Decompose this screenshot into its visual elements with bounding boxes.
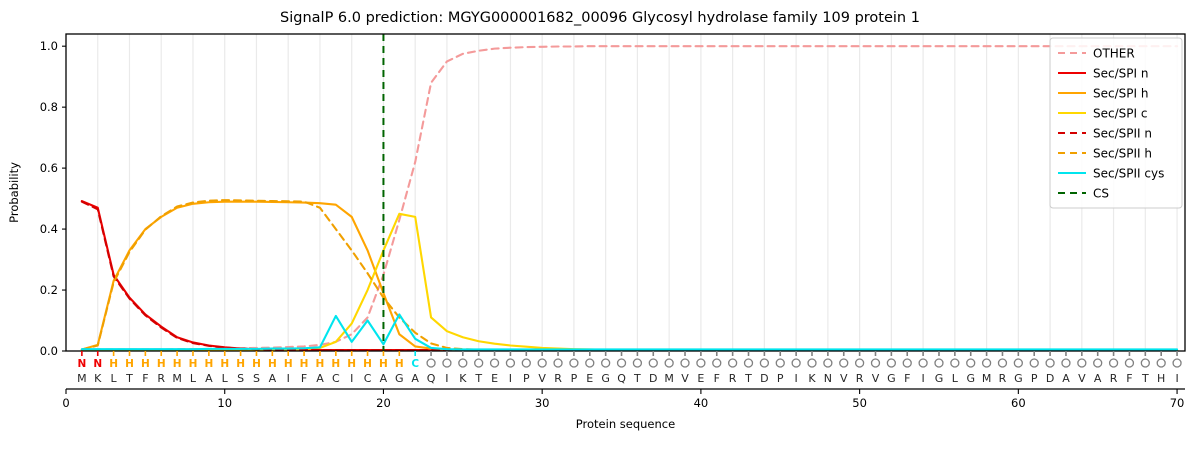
region-marker-h: H	[347, 358, 356, 370]
sequence-letter: G	[395, 372, 404, 385]
region-marker-o	[903, 359, 911, 367]
sequence-letter: T	[1141, 372, 1149, 385]
sequence-letter: R	[729, 372, 737, 385]
sequence-letter: D	[649, 372, 657, 385]
region-marker-o	[475, 359, 483, 367]
series-line-sec-spii-n	[82, 202, 1177, 351]
legend-label-sec-spii-h: Sec/SPII h	[1093, 147, 1152, 161]
sequence-letter: P	[571, 372, 578, 385]
sequence-letter: I	[1175, 372, 1178, 385]
sequence-letter: A	[1062, 372, 1070, 385]
sequence-letter: A	[1094, 372, 1102, 385]
sequence-letter: L	[952, 372, 959, 385]
sequence-letter: R	[856, 372, 864, 385]
sequence-letter: I	[921, 372, 924, 385]
region-marker-o	[1030, 359, 1038, 367]
x-tick-label: 60	[1011, 396, 1026, 410]
sequence-letter: C	[332, 372, 340, 385]
sequence-letter: A	[316, 372, 324, 385]
region-marker-o	[1157, 359, 1165, 367]
region-marker-h: H	[220, 358, 229, 370]
sequence-letter: M	[77, 372, 87, 385]
region-marker-h: H	[157, 358, 166, 370]
region-marker-o	[554, 359, 562, 367]
y-tick-label: 0.4	[40, 222, 58, 236]
region-marker-o	[1110, 359, 1118, 367]
y-tick-label: 0.6	[40, 161, 58, 175]
series-line-sec-spii-cys	[82, 314, 1177, 349]
sequence-letter: P	[523, 372, 530, 385]
region-marker-o	[935, 359, 943, 367]
series-line-sec-spi-c	[82, 214, 1177, 350]
region-marker-o	[887, 359, 895, 367]
legend-label-sec-spi-n: Sec/SPI n	[1093, 67, 1148, 81]
plot-frame	[66, 34, 1185, 351]
region-marker-o	[808, 359, 816, 367]
region-marker-o	[427, 359, 435, 367]
region-marker-o	[459, 359, 467, 367]
region-marker-o	[1078, 359, 1086, 367]
sequence-letter: T	[125, 372, 133, 385]
sequence-letter: I	[445, 372, 448, 385]
sequence-letter: T	[744, 372, 752, 385]
region-marker-h: H	[268, 358, 277, 370]
sequence-letter: R	[554, 372, 562, 385]
region-marker-h: H	[363, 358, 372, 370]
series-line-sec-spi-n	[82, 201, 1177, 350]
sequence-letter: K	[808, 372, 816, 385]
region-marker-o	[983, 359, 991, 367]
sequence-letter: F	[301, 372, 307, 385]
region-marker-o	[745, 359, 753, 367]
region-marker-o	[538, 359, 546, 367]
sequence-letter: K	[459, 372, 467, 385]
sequence-letter: A	[205, 372, 213, 385]
sequence-letter: V	[681, 372, 689, 385]
region-marker-h: H	[141, 358, 150, 370]
region-marker-o	[570, 359, 578, 367]
region-marker-h: H	[236, 358, 245, 370]
region-marker-o	[967, 359, 975, 367]
sequence-letter: R	[999, 372, 1007, 385]
region-marker-h: H	[252, 358, 261, 370]
sequence-letter: P	[1031, 372, 1038, 385]
region-marker-h: H	[316, 358, 325, 370]
y-tick-label: 1.0	[40, 39, 58, 53]
sequence-letter: L	[111, 372, 118, 385]
sequence-letter: I	[287, 372, 290, 385]
region-marker-o	[951, 359, 959, 367]
sequence-letter: E	[697, 372, 704, 385]
region-marker-h: H	[204, 358, 213, 370]
region-marker-o	[1062, 359, 1070, 367]
sequence-letter: N	[824, 372, 832, 385]
sequence-letter: D	[1046, 372, 1054, 385]
region-marker-o	[824, 359, 832, 367]
region-marker-o	[776, 359, 784, 367]
region-marker-h: H	[173, 358, 182, 370]
sequence-letter: T	[474, 372, 482, 385]
sequence-letter: G	[601, 372, 610, 385]
sequence-letter: V	[1078, 372, 1086, 385]
sequence-letter: D	[760, 372, 768, 385]
sequence-letter: M	[982, 372, 992, 385]
region-marker-o	[1173, 359, 1181, 367]
x-tick-label: 70	[1170, 396, 1185, 410]
sequence-letter: A	[269, 372, 277, 385]
region-marker-o	[760, 359, 768, 367]
region-marker-o	[713, 359, 721, 367]
legend-label-cs: CS	[1093, 187, 1109, 201]
sequence-letter: A	[411, 372, 419, 385]
sequence-letter: M	[172, 372, 182, 385]
legend-box	[1050, 38, 1182, 208]
x-axis-label: Protein sequence	[576, 417, 675, 431]
x-tick-label: 30	[535, 396, 550, 410]
sequence-letter: V	[538, 372, 546, 385]
sequence-letter: G	[966, 372, 975, 385]
series-line-sec-spi-h	[82, 202, 1177, 351]
sequence-letter: F	[1126, 372, 1132, 385]
y-tick-label: 0.2	[40, 283, 58, 297]
sequence-letter: V	[872, 372, 880, 385]
region-marker-o	[522, 359, 530, 367]
region-marker-h: H	[331, 358, 340, 370]
sequence-letter: S	[237, 372, 244, 385]
region-marker-o	[792, 359, 800, 367]
sequence-letter: E	[586, 372, 593, 385]
region-marker-h: H	[189, 358, 198, 370]
series-line-other	[82, 46, 1177, 349]
sequence-letter: L	[222, 372, 229, 385]
region-marker-o	[602, 359, 610, 367]
region-marker-h: H	[109, 358, 118, 370]
sequence-letter: S	[253, 372, 260, 385]
sequence-letter: R	[157, 372, 165, 385]
region-marker-o	[729, 359, 737, 367]
sequence-letter: C	[364, 372, 372, 385]
sequence-letter: H	[1157, 372, 1165, 385]
legend-label-sec-spi-c: Sec/SPI c	[1093, 107, 1147, 121]
region-marker-o	[998, 359, 1006, 367]
signalp-figure: SignalP 6.0 prediction: MGYG000001682_00…	[0, 0, 1200, 450]
sequence-letter: M	[664, 372, 674, 385]
y-axis-label: Probability	[7, 162, 21, 223]
chart-title: SignalP 6.0 prediction: MGYG000001682_00…	[280, 10, 920, 26]
region-marker-o	[506, 359, 514, 367]
sequence-letter: I	[350, 372, 353, 385]
region-marker-h: H	[300, 358, 309, 370]
region-marker-o	[856, 359, 864, 367]
series-line-sec-spii-h	[82, 200, 1177, 350]
region-marker-o	[871, 359, 879, 367]
region-marker-h: H	[395, 358, 404, 370]
x-tick-label: 40	[694, 396, 709, 410]
sequence-letter: T	[633, 372, 641, 385]
region-marker-o	[1094, 359, 1102, 367]
region-marker-h: H	[125, 358, 134, 370]
sequence-letter: G	[1014, 372, 1023, 385]
legend-label-sec-spii-n: Sec/SPII n	[1093, 127, 1152, 141]
region-marker-o	[649, 359, 657, 367]
region-marker-o	[665, 359, 673, 367]
sequence-letter: L	[190, 372, 197, 385]
region-marker-o	[1141, 359, 1149, 367]
region-marker-o	[618, 359, 626, 367]
region-marker-o	[633, 359, 641, 367]
region-marker-n: N	[93, 358, 102, 370]
sequence-letter: A	[380, 372, 388, 385]
region-marker-o	[1125, 359, 1133, 367]
sequence-letter: P	[777, 372, 784, 385]
x-tick-label: 10	[217, 396, 232, 410]
region-marker-o	[840, 359, 848, 367]
sequence-letter: R	[1110, 372, 1118, 385]
sequence-letter: I	[509, 372, 512, 385]
legend-label-sec-spi-h: Sec/SPI h	[1093, 87, 1148, 101]
region-marker-o	[443, 359, 451, 367]
region-marker-o	[1046, 359, 1054, 367]
sequence-letter: G	[887, 372, 896, 385]
sequence-letter: V	[840, 372, 848, 385]
region-marker-o	[491, 359, 499, 367]
sequence-letter: E	[491, 372, 498, 385]
y-tick-label: 0.0	[40, 344, 58, 358]
region-marker-n: N	[77, 358, 86, 370]
legend-label-sec-spii-cys: Sec/SPII cys	[1093, 167, 1164, 181]
y-tick-label: 0.8	[40, 100, 58, 114]
plot-svg: SignalP 6.0 prediction: MGYG000001682_00…	[0, 0, 1200, 450]
x-tick-label: 50	[852, 396, 867, 410]
region-marker-o	[1014, 359, 1022, 367]
region-marker-o	[586, 359, 594, 367]
region-marker-c: C	[411, 358, 419, 370]
sequence-letter: I	[795, 372, 798, 385]
sequence-letter: F	[904, 372, 910, 385]
sequence-letter: Q	[617, 372, 626, 385]
sequence-letter: K	[94, 372, 102, 385]
sequence-letter: F	[714, 372, 720, 385]
region-marker-h: H	[379, 358, 388, 370]
sequence-letter: F	[142, 372, 148, 385]
region-marker-o	[681, 359, 689, 367]
legend-label-other: OTHER	[1093, 47, 1135, 61]
sequence-letter: Q	[427, 372, 436, 385]
region-marker-o	[697, 359, 705, 367]
region-marker-h: H	[284, 358, 293, 370]
sequence-letter: G	[935, 372, 944, 385]
region-marker-o	[919, 359, 927, 367]
x-tick-label: 0	[62, 396, 69, 410]
x-tick-label: 20	[376, 396, 391, 410]
